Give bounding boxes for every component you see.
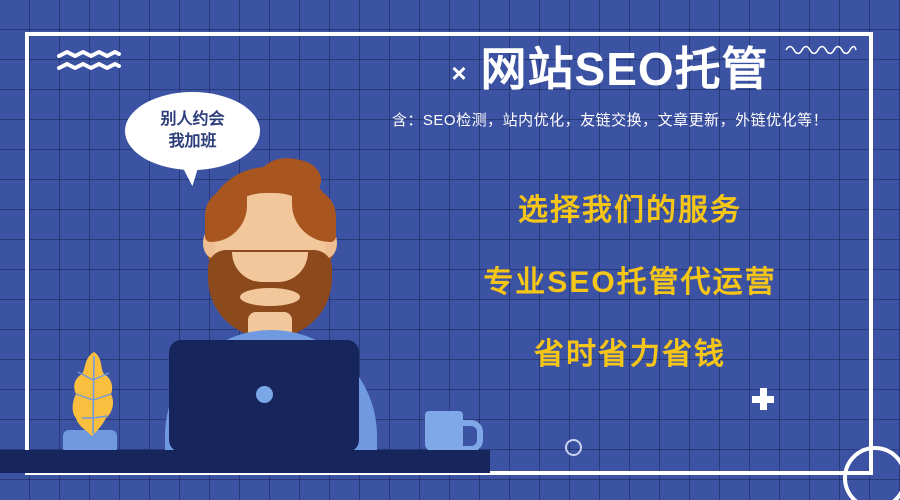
coffee-mug [425, 411, 463, 451]
plant-leaf-icon [70, 350, 118, 436]
coffee-mug-handle [459, 420, 483, 452]
desk [0, 450, 490, 473]
plus-icon [752, 388, 774, 410]
laptop-logo-icon [256, 386, 273, 403]
circle-outline-icon [565, 439, 582, 456]
character-illustration [0, 0, 520, 500]
mouth [240, 288, 300, 306]
title-text: 网站SEO托管 [481, 44, 769, 95]
seo-banner: × 网站SEO托管 含：SEO检测，站内优化，友链交换，文章更新，外链优化等！ … [0, 0, 900, 500]
